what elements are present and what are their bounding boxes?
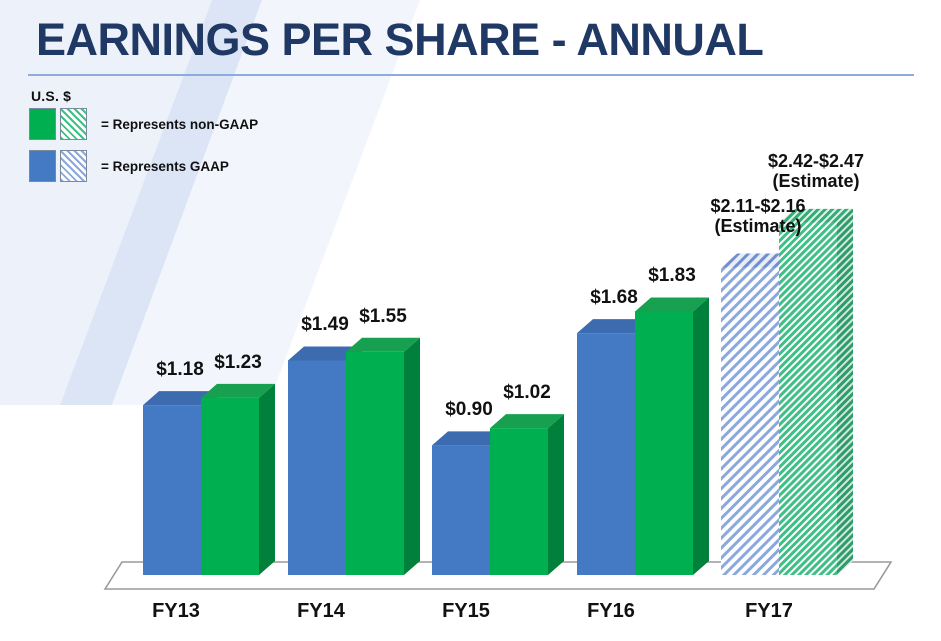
legend-label-non-gaap: = Represents non-GAAP xyxy=(101,117,258,132)
bar-fy14-non-gaap xyxy=(346,338,420,575)
value-label-fy13-gaap: $1.18 xyxy=(156,359,204,380)
bar-fy17-non-gaap xyxy=(779,209,853,575)
value-label-fy13-non-gaap: $1.23 xyxy=(214,352,262,373)
bar-fy13-non-gaap xyxy=(201,384,275,575)
page-title: EARNINGS PER SHARE - ANNUAL xyxy=(36,14,763,66)
bar-fy14-gaap xyxy=(288,346,362,575)
value-label-fy17-gaap: $2.11-$2.16(Estimate) xyxy=(710,196,805,236)
value-label-fy17-non-gaap: $2.42-$2.47(Estimate) xyxy=(768,151,864,191)
bar-fy16-gaap xyxy=(577,319,651,575)
legend-swatch-hatched-green xyxy=(60,108,87,140)
value-label-fy16-non-gaap: $1.83 xyxy=(648,265,696,286)
legend-swatch-solid-green xyxy=(29,108,56,140)
category-label-fy13: FY13 xyxy=(152,600,200,623)
category-label-fy17: FY17 xyxy=(745,600,793,623)
bar-fy16-non-gaap xyxy=(635,297,709,575)
legend-item-gaap: = Represents GAAP xyxy=(29,149,359,183)
legend-swatch-solid-blue xyxy=(29,150,56,182)
legend: U.S. $ = Represents non-GAAP = Represent… xyxy=(29,88,359,183)
bars-layer xyxy=(143,209,853,575)
category-label-fy15: FY15 xyxy=(442,600,490,623)
bar-fy15-non-gaap xyxy=(490,414,564,575)
category-label-fy14: FY14 xyxy=(297,600,345,623)
value-label-fy16-gaap: $1.68 xyxy=(590,287,638,308)
bar-fy17-gaap xyxy=(721,254,795,575)
bar-fy15-gaap xyxy=(432,431,506,575)
bar-fy13-gaap xyxy=(143,391,217,575)
value-label-fy15-gaap: $0.90 xyxy=(445,399,493,420)
chart-floor xyxy=(105,562,891,589)
value-label-fy15-non-gaap: $1.02 xyxy=(503,382,551,403)
legend-swatch-hatched-blue xyxy=(60,150,87,182)
legend-item-non-gaap: = Represents non-GAAP xyxy=(29,107,359,141)
value-sublabel-fy17-gaap: (Estimate) xyxy=(714,216,801,236)
legend-label-gaap: = Represents GAAP xyxy=(101,159,229,174)
legend-units-label: U.S. $ xyxy=(31,88,359,104)
title-divider xyxy=(28,74,914,76)
value-label-fy14-non-gaap: $1.55 xyxy=(359,306,407,327)
value-sublabel-fy17-non-gaap: (Estimate) xyxy=(772,171,859,191)
category-label-fy16: FY16 xyxy=(587,600,635,623)
value-label-fy14-gaap: $1.49 xyxy=(301,314,349,335)
